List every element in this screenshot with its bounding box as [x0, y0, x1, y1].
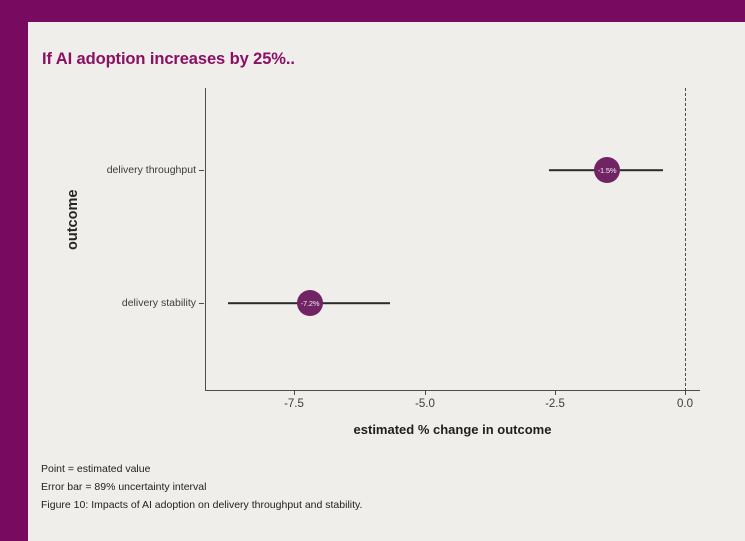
- y-tick-label-delivery-throughput: delivery throughput: [107, 164, 196, 176]
- page-frame: If AI adoption increases by 25%.. -7.5 -…: [0, 0, 745, 541]
- footnotes: Point = estimated value Error bar = 89% …: [41, 460, 641, 514]
- x-tick-label: -7.5: [284, 398, 304, 410]
- x-tick-label: -5.0: [415, 398, 435, 410]
- data-point-label: -7.2%: [301, 299, 320, 308]
- figure-caption: Figure 10: Impacts of AI adoption on del…: [41, 496, 641, 514]
- y-tick-mark: [199, 303, 204, 304]
- x-tick-mark: [294, 390, 295, 395]
- zero-reference-line: [685, 88, 686, 391]
- footnote-errorbar-definition: Error bar = 89% uncertainty interval: [41, 478, 641, 496]
- data-point-delivery-stability[interactable]: -7.2%: [297, 290, 323, 316]
- x-tick-label: -2.5: [545, 398, 565, 410]
- y-tick-label-delivery-stability: delivery stability: [122, 297, 196, 309]
- y-axis-line: [205, 88, 206, 391]
- x-axis-title: estimated % change in outcome: [205, 422, 700, 437]
- data-point-delivery-throughput[interactable]: -1.5%: [594, 157, 620, 183]
- x-axis-line: [205, 390, 700, 391]
- chart-card: If AI adoption increases by 25%.. -7.5 -…: [28, 22, 745, 541]
- footnote-point-definition: Point = estimated value: [41, 460, 641, 478]
- x-tick-mark: [555, 390, 556, 395]
- y-axis-title: outcome: [65, 190, 81, 250]
- y-tick-mark: [199, 170, 204, 171]
- data-point-label: -1.5%: [598, 166, 617, 175]
- x-tick-mark: [425, 390, 426, 395]
- x-tick-label: 0.0: [677, 398, 693, 410]
- x-tick-mark: [685, 390, 686, 395]
